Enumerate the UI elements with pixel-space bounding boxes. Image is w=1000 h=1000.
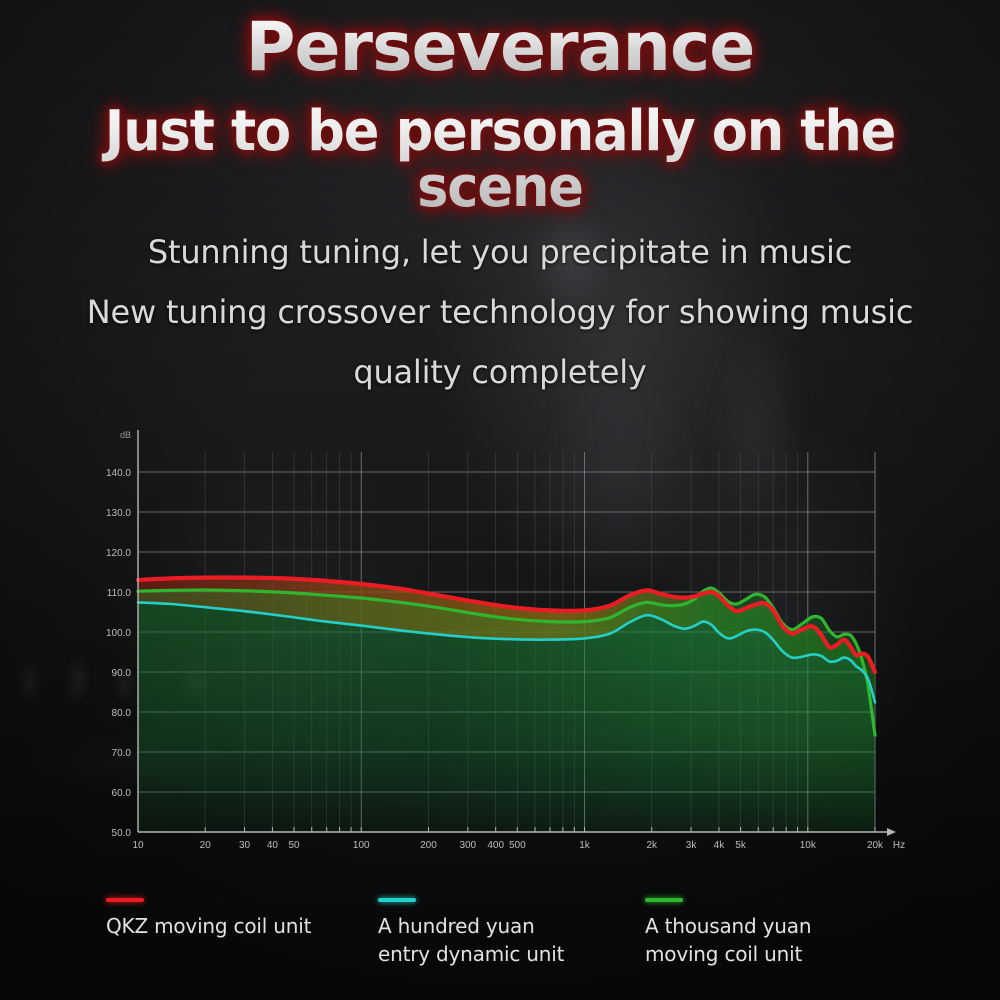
svg-text:Hz: Hz (893, 840, 905, 851)
svg-text:40: 40 (267, 840, 279, 851)
svg-text:140.0: 140.0 (106, 468, 131, 479)
legend-swatch-hundred-yuan (378, 898, 416, 902)
svg-text:90.0: 90.0 (112, 668, 132, 679)
headline-secondary: Just to be personally on the scene (30, 82, 970, 216)
svg-text:3k: 3k (686, 840, 698, 851)
frequency-response-chart: 140.0130.0120.0110.0100.090.080.070.060.… (100, 418, 910, 870)
svg-text:10: 10 (132, 840, 144, 851)
svg-text:110.0: 110.0 (107, 588, 132, 599)
svg-text:70.0: 70.0 (112, 748, 132, 759)
body-copy-line-2: New tuning crossover technology for show… (0, 282, 1000, 342)
svg-text:80.0: 80.0 (112, 708, 132, 719)
body-copy: Stunning tuning, let you precipitate in … (0, 222, 1000, 402)
chart-legend: QKZ moving coil unit A hundred yuan entr… (100, 898, 930, 988)
svg-text:10k: 10k (800, 840, 817, 851)
svg-text:20k: 20k (867, 840, 884, 851)
svg-text:4k: 4k (714, 840, 726, 851)
svg-text:5k: 5k (735, 840, 747, 851)
body-copy-line-3: quality completely (0, 342, 1000, 402)
legend-item-hundred-yuan: A hundred yuan entry dynamic unit (378, 898, 564, 968)
svg-text:60.0: 60.0 (112, 788, 132, 799)
headline-primary: Perseverance (0, 0, 1000, 82)
legend-item-thousand-yuan: A thousand yuan moving coil unit (645, 898, 811, 968)
svg-text:130.0: 130.0 (106, 508, 131, 519)
svg-text:1k: 1k (579, 840, 591, 851)
headline-block: Perseverance Just to be personally on th… (0, 0, 1000, 216)
legend-swatch-qkz (106, 898, 144, 902)
legend-label-thousand-yuan: A thousand yuan moving coil unit (645, 912, 811, 968)
svg-text:2k: 2k (646, 840, 658, 851)
svg-text:50: 50 (288, 840, 300, 851)
svg-text:dB: dB (120, 430, 131, 440)
svg-text:100.0: 100.0 (106, 628, 131, 639)
svg-text:400: 400 (487, 840, 504, 851)
svg-text:200: 200 (420, 840, 437, 851)
svg-text:500: 500 (509, 840, 526, 851)
svg-text:100: 100 (353, 840, 370, 851)
legend-label-hundred-yuan: A hundred yuan entry dynamic unit (378, 912, 564, 968)
legend-label-qkz: QKZ moving coil unit (106, 912, 311, 940)
svg-text:30: 30 (239, 840, 251, 851)
chart-svg: 140.0130.0120.0110.0100.090.080.070.060.… (100, 418, 910, 870)
promo-page: Perseverance Just to be personally on th… (0, 0, 1000, 1000)
legend-swatch-thousand-yuan (645, 898, 683, 902)
svg-text:300: 300 (459, 840, 476, 851)
svg-text:120.0: 120.0 (106, 548, 131, 559)
body-copy-line-1: Stunning tuning, let you precipitate in … (0, 222, 1000, 282)
svg-text:20: 20 (200, 840, 212, 851)
svg-text:50.0: 50.0 (112, 828, 132, 839)
legend-item-qkz: QKZ moving coil unit (106, 898, 311, 940)
